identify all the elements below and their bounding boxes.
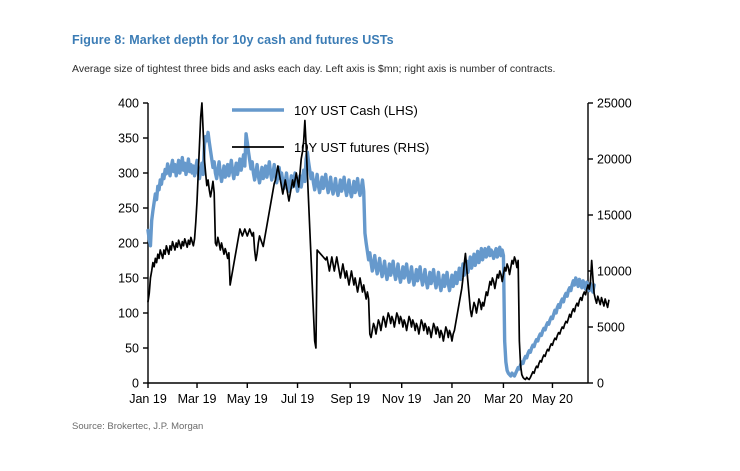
svg-text:200: 200	[118, 237, 139, 251]
figure-page: Figure 8: Market depth for 10y cash and …	[0, 0, 740, 471]
svg-text:Sep 19: Sep 19	[330, 392, 370, 405]
right-axis-ticks: 0500010000150002000025000	[588, 97, 632, 391]
svg-text:Nov 19: Nov 19	[382, 392, 422, 405]
svg-text:100: 100	[118, 307, 139, 321]
svg-text:Jan 19: Jan 19	[129, 392, 167, 405]
left-axis-ticks: 050100150200250300350400	[118, 97, 148, 391]
svg-text:10Y UST Cash (LHS): 10Y UST Cash (LHS)	[294, 103, 418, 118]
chart-legend: 10Y UST Cash (LHS)10Y UST futures (RHS)	[232, 103, 429, 155]
svg-text:May 20: May 20	[532, 392, 573, 405]
svg-text:10Y UST futures (RHS): 10Y UST futures (RHS)	[294, 140, 429, 155]
svg-text:10000: 10000	[597, 265, 632, 279]
svg-text:0: 0	[132, 377, 139, 391]
svg-text:Mar 19: Mar 19	[178, 392, 217, 405]
svg-text:Jan 20: Jan 20	[433, 392, 471, 405]
line-chart: 050100150200250300350400 050001000015000…	[0, 85, 740, 405]
svg-text:Mar 20: Mar 20	[484, 392, 523, 405]
svg-text:150: 150	[118, 272, 139, 286]
svg-text:350: 350	[118, 132, 139, 146]
figure-source: Source: Brokertec, J.P. Morgan	[72, 421, 203, 432]
x-axis-ticks: Jan 19Mar 19May 19Jul 19Sep 19Nov 19Jan …	[129, 383, 573, 405]
figure-subtitle: Average size of tightest three bids and …	[72, 63, 555, 75]
figure-title: Figure 8: Market depth for 10y cash and …	[72, 33, 394, 47]
svg-text:50: 50	[125, 342, 139, 356]
svg-text:15000: 15000	[597, 209, 632, 223]
svg-text:400: 400	[118, 97, 139, 111]
svg-text:300: 300	[118, 167, 139, 181]
svg-text:250: 250	[118, 202, 139, 216]
svg-text:5000: 5000	[597, 321, 625, 335]
chart-plot-area: 050100150200250300350400 050001000015000…	[0, 85, 740, 405]
svg-text:May 19: May 19	[227, 392, 268, 405]
svg-text:0: 0	[597, 377, 604, 391]
svg-text:20000: 20000	[597, 153, 632, 167]
svg-text:25000: 25000	[597, 97, 632, 111]
svg-text:Jul 19: Jul 19	[281, 392, 314, 405]
